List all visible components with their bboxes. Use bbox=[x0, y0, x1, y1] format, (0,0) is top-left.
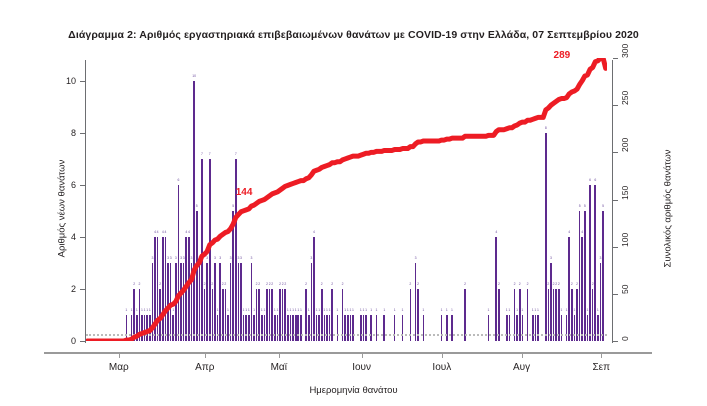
cumulative-value-annotation: 289 bbox=[554, 50, 571, 61]
x-tick-label: Σεπ bbox=[592, 362, 610, 373]
x-tick bbox=[119, 352, 120, 358]
y-tick-label-left: 0 bbox=[52, 336, 76, 346]
x-tick-label: Ιουν bbox=[352, 362, 371, 373]
y-axis-right-line bbox=[612, 60, 613, 343]
plot-inner: 1121211113442443313633443105372372313221… bbox=[86, 58, 607, 341]
x-axis-line bbox=[44, 352, 652, 354]
x-tick-label: Μαϊ bbox=[271, 362, 287, 373]
cumulative-line-series bbox=[86, 58, 607, 341]
y-tick-left bbox=[80, 289, 85, 290]
x-tick bbox=[601, 352, 602, 358]
y-tick-label-left: 10 bbox=[52, 76, 76, 86]
y-tick-left bbox=[80, 341, 85, 342]
plot-area: 1121211113442443313633443105372372313221… bbox=[86, 58, 607, 341]
y-tick-label-right: 100 bbox=[620, 232, 630, 246]
y-tick-right bbox=[613, 341, 618, 342]
x-tick bbox=[205, 352, 206, 358]
x-tick bbox=[279, 352, 280, 358]
y-tick-left bbox=[80, 185, 85, 186]
y-tick-left bbox=[80, 81, 85, 82]
page-title: Διάγραμμα 2: Αριθμός εργαστηριακά επιβεβ… bbox=[0, 29, 707, 41]
y-tick-right bbox=[613, 58, 618, 59]
y-tick-label-right: 50 bbox=[620, 284, 630, 293]
x-tick bbox=[522, 352, 523, 358]
y-tick-right bbox=[613, 105, 618, 106]
y-tick-label-right: 200 bbox=[620, 138, 630, 152]
y-tick-left bbox=[80, 237, 85, 238]
y-tick-label-right: 150 bbox=[620, 185, 630, 199]
y-tick-left bbox=[80, 133, 85, 134]
x-tick bbox=[442, 352, 443, 358]
y-tick-right bbox=[613, 200, 618, 201]
y-tick-label-right: 0 bbox=[620, 336, 630, 341]
chart-page: Διάγραμμα 2: Αριθμός εργαστηριακά επιβεβ… bbox=[0, 0, 707, 406]
y-tick-right bbox=[613, 247, 618, 248]
cumulative-value-annotation: 144 bbox=[236, 187, 253, 198]
y-tick-label-right: 250 bbox=[620, 91, 630, 105]
x-tick-label: Απρ bbox=[195, 362, 214, 373]
x-tick bbox=[362, 352, 363, 358]
x-tick-label: Αυγ bbox=[513, 362, 530, 373]
x-tick-label: Ιουλ bbox=[432, 362, 451, 373]
x-tick-label: Μαρ bbox=[109, 362, 129, 373]
x-axis-label: Ημερομηνία θανάτου bbox=[0, 385, 707, 396]
y-tick-right bbox=[613, 152, 618, 153]
y-axis-right-label: Συνολικός αριθμός θανάτων bbox=[663, 124, 674, 294]
y-tick-right bbox=[613, 294, 618, 295]
y-tick-label-right: 300 bbox=[620, 44, 630, 58]
y-axis-left-label: Αριθμός νέων θανάτων bbox=[57, 129, 68, 289]
